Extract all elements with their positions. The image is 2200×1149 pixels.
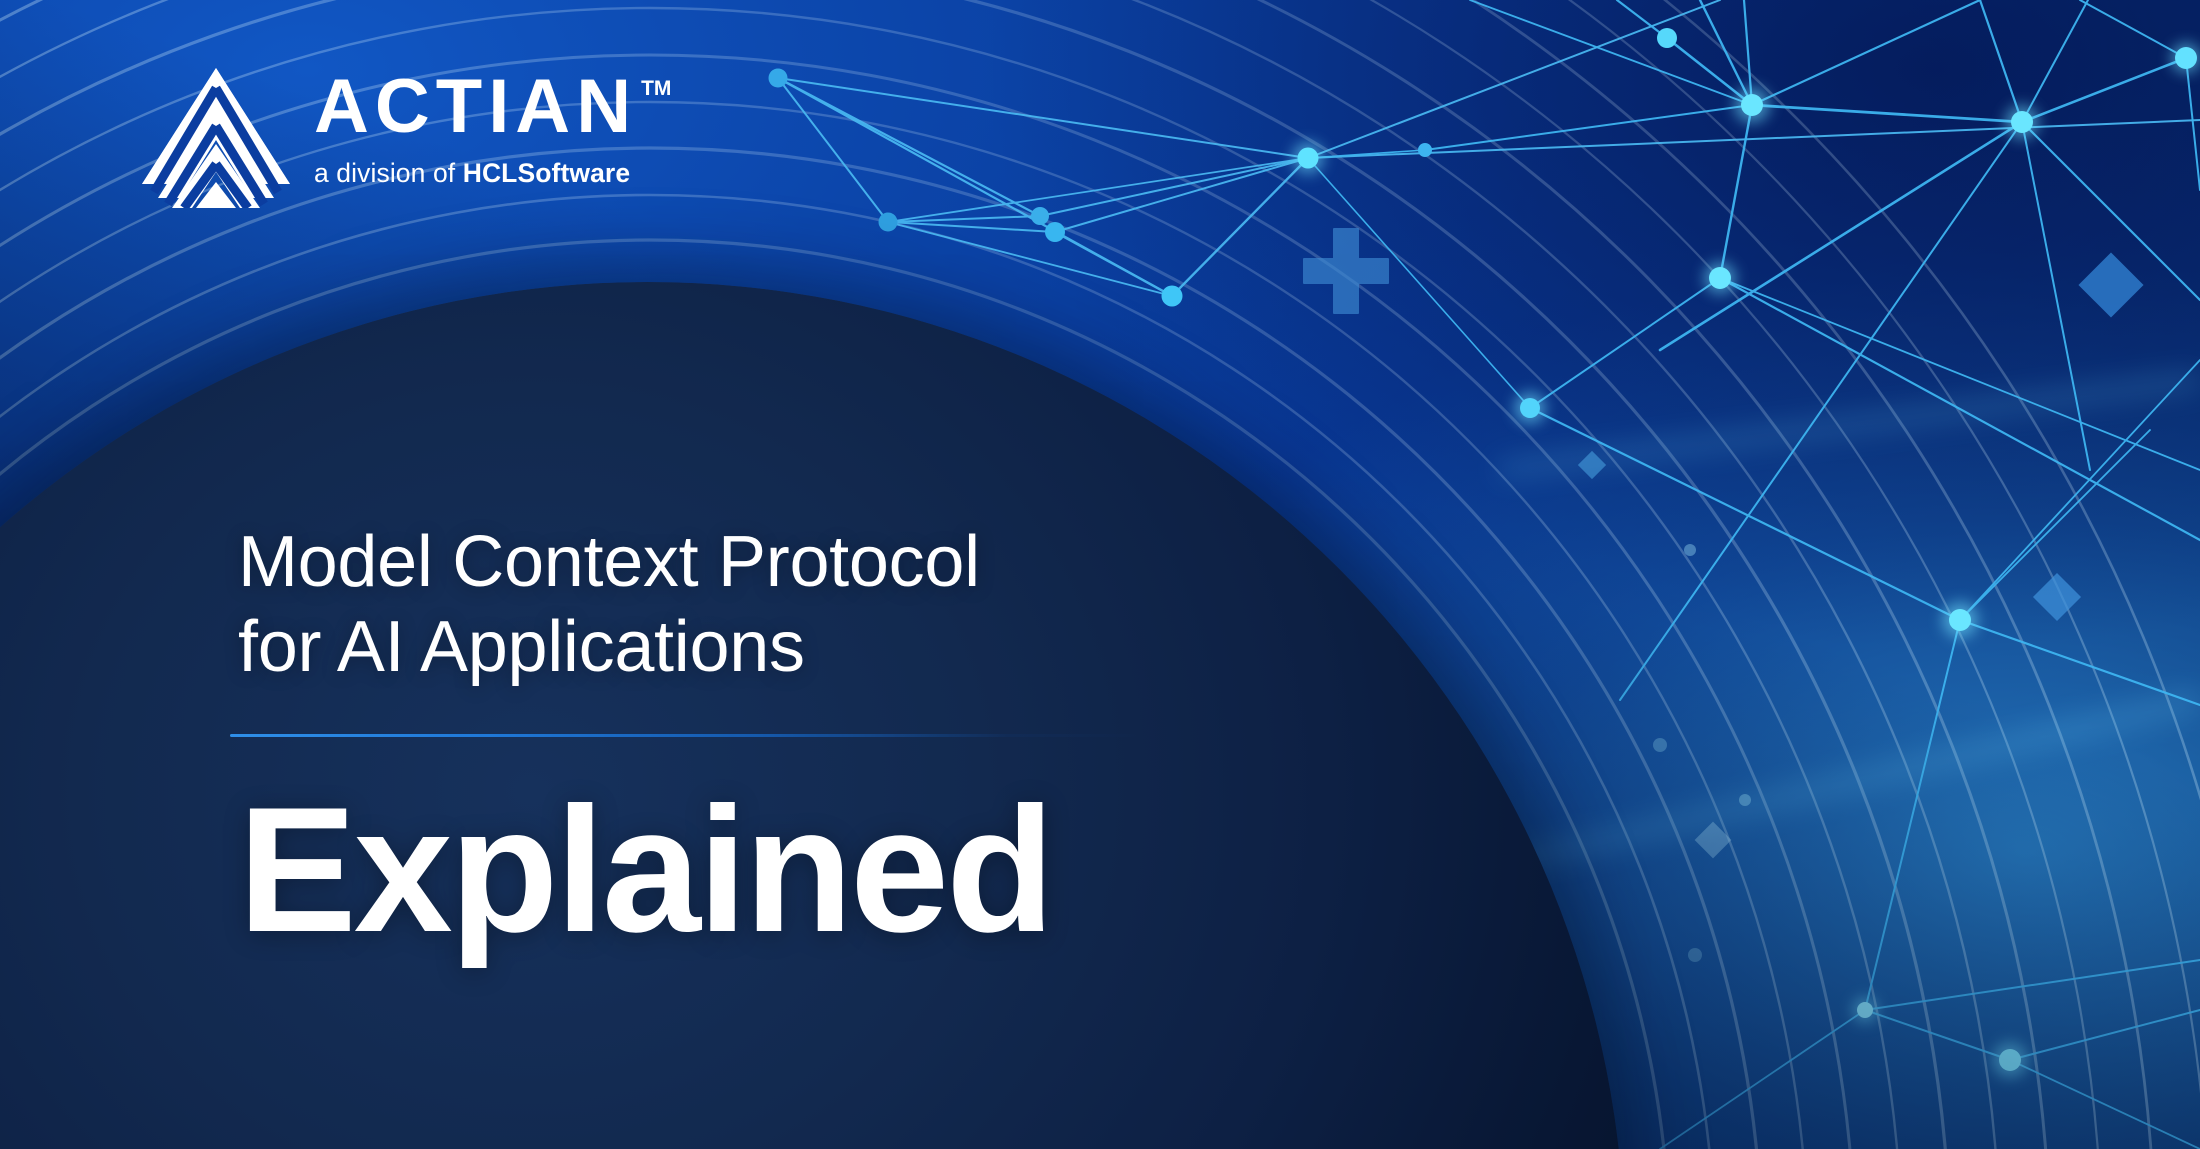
title-line-1: Model Context Protocol [238, 520, 1338, 605]
tagline-prefix: a division of [314, 158, 463, 188]
brand-name: ACTIAN [314, 72, 637, 142]
actian-triangle-logo [140, 66, 292, 208]
trademark-symbol: TM [641, 78, 671, 99]
title-line-2: for AI Applications [238, 605, 1338, 690]
tagline-bold: HCLSoftware [463, 158, 630, 188]
title-divider [230, 734, 1145, 737]
promo-banner: ACTIAN TM a division of HCLSoftware Mode… [0, 0, 2200, 1149]
hero-content: Model Context Protocol for AI Applicatio… [238, 520, 1338, 959]
actian-logo[interactable]: ACTIAN TM a division of HCLSoftware [140, 62, 671, 208]
brand-tagline: a division of HCLSoftware [314, 158, 671, 189]
page-title: Model Context Protocol for AI Applicatio… [238, 520, 1338, 690]
hero-headline: Explained [238, 781, 1338, 959]
logo-text-block: ACTIAN TM a division of HCLSoftware [314, 62, 671, 189]
